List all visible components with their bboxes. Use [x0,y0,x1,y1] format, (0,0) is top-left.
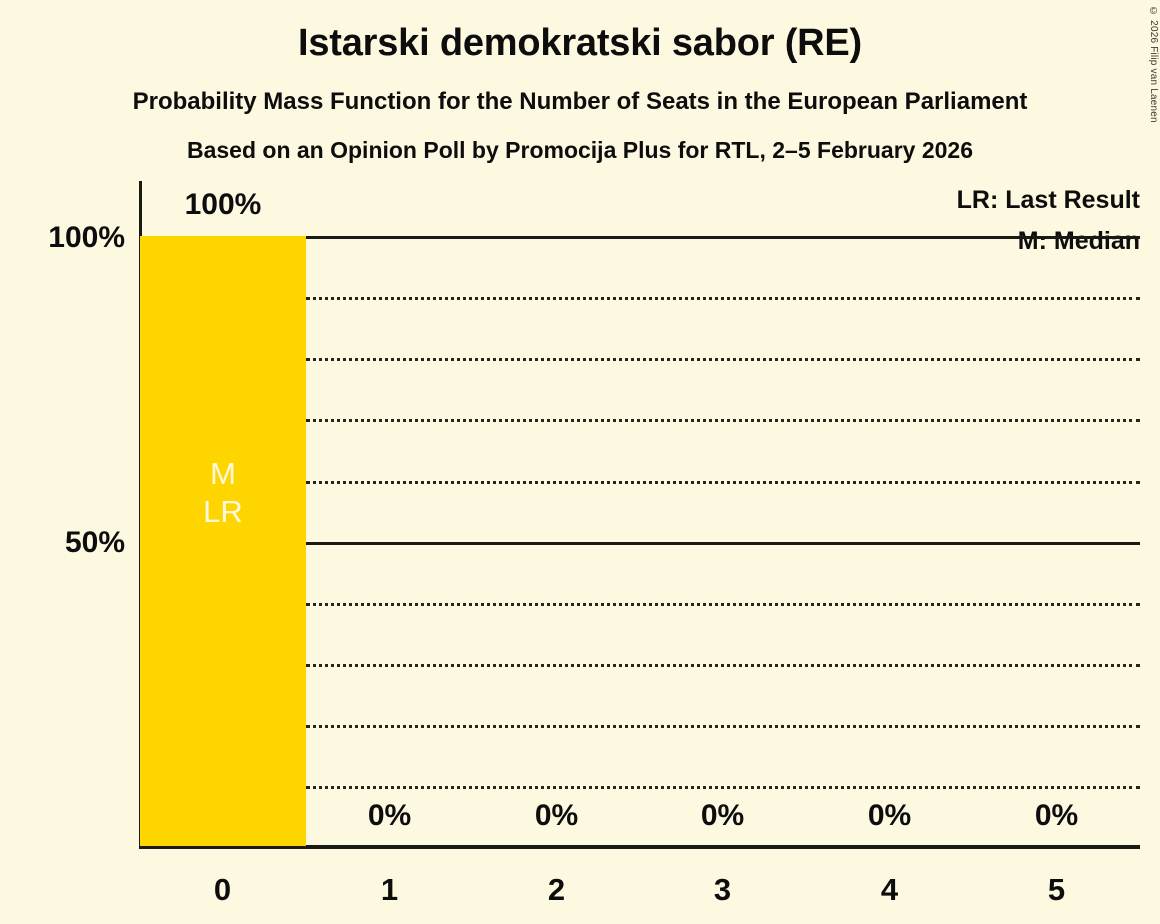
pmf-chart: Istarski demokratski sabor (RE) Probabil… [0,0,1160,924]
gridline-90 [306,297,1140,300]
copyright-notice: © 2026 Filip van Laenen [1148,6,1159,123]
gridline-50 [306,542,1140,545]
last-result-marker-label: LR [140,493,306,531]
legend-last-result: LR: Last Result [957,186,1140,215]
bar-value-label-5: 0% [973,799,1140,833]
median-marker-label: M [140,455,306,493]
ytick-label-50: 50% [15,526,125,560]
xtick-label-3: 3 [639,872,806,908]
ytick-label-100: 100% [15,221,125,255]
xtick-label-5: 5 [973,872,1140,908]
gridline-60 [306,481,1140,484]
gridline-70 [306,419,1140,422]
gridline-20 [306,725,1140,728]
xtick-label-4: 4 [806,872,973,908]
chart-source-line: Based on an Opinion Poll by Promocija Pl… [0,137,1160,164]
bar-value-label-0: 100% [140,188,306,222]
gridline-30 [306,664,1140,667]
bar-value-label-3: 0% [639,799,806,833]
xtick-label-2: 2 [473,872,640,908]
bar-value-label-1: 0% [306,799,473,833]
chart-subtitle: Probability Mass Function for the Number… [0,88,1160,116]
page-title: Istarski demokratski sabor (RE) [0,22,1160,65]
legend-median: M: Median [1018,227,1140,256]
bar-value-label-2: 0% [473,799,640,833]
xtick-label-0: 0 [139,872,306,908]
bar-seats-0[interactable]: M LR [140,236,306,846]
gridline-80 [306,358,1140,361]
gridline-100 [306,236,1140,239]
gridline-10 [306,786,1140,789]
gridline-40 [306,603,1140,606]
xtick-label-1: 1 [306,872,473,908]
bar-value-label-4: 0% [806,799,973,833]
